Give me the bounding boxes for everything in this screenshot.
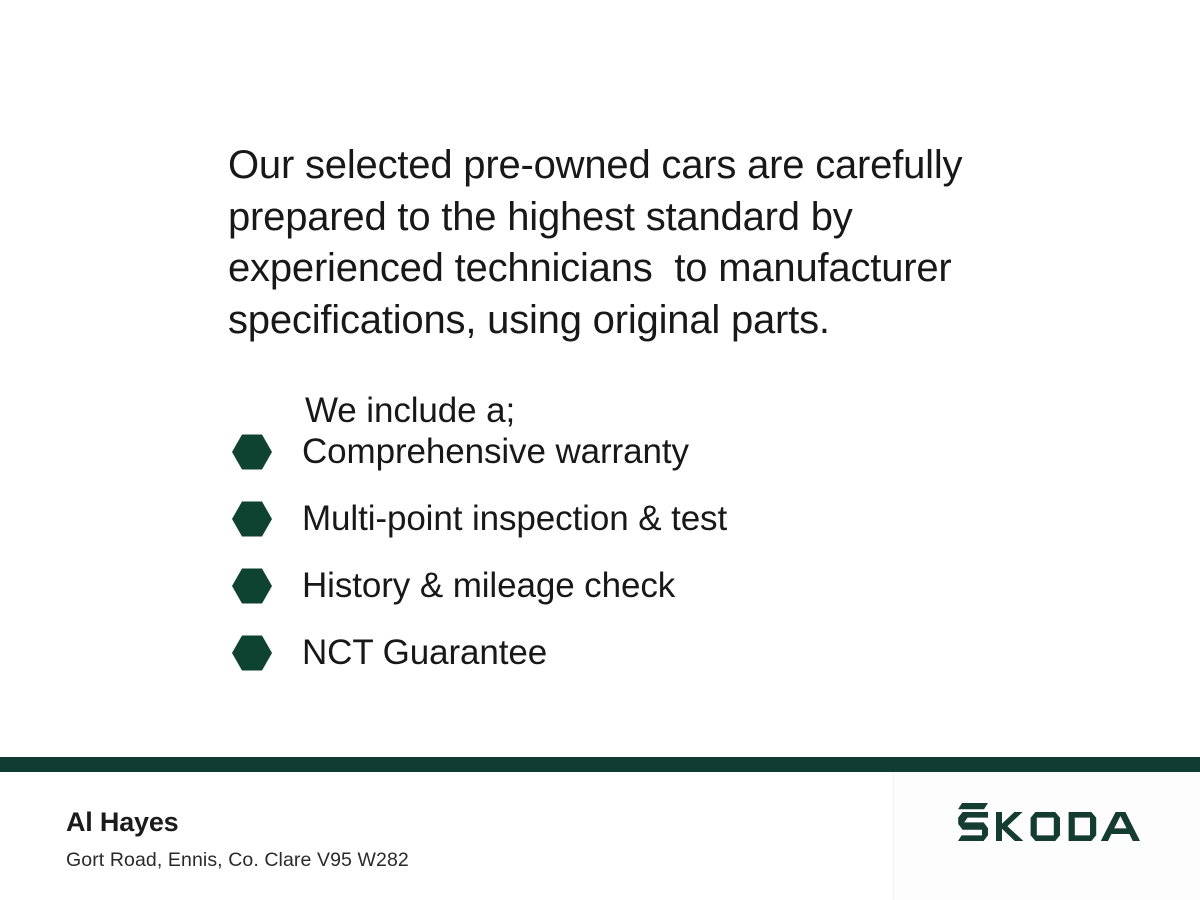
skoda-wordmark-logo [958, 803, 1140, 841]
dealer-address: Gort Road, Ennis, Co. Clare V95 W282 [66, 848, 409, 872]
benefits-list: Comprehensive warranty Multi-point inspe… [232, 418, 932, 686]
dealer-name: Al Hayes [66, 806, 178, 838]
hexagon-bullet-icon [232, 633, 272, 673]
brand-divider-bar [0, 757, 1200, 772]
page-title: Our selected pre-owned cars are carefull… [228, 140, 1018, 346]
list-item: NCT Guarantee [232, 619, 932, 686]
hexagon-bullet-icon [232, 566, 272, 606]
list-item-label: Comprehensive warranty [302, 432, 689, 472]
list-item: Comprehensive warranty [232, 418, 932, 485]
list-item: History & mileage check [232, 552, 932, 619]
list-item-label: NCT Guarantee [302, 633, 547, 673]
list-item-label: Multi-point inspection & test [302, 499, 727, 539]
hexagon-bullet-icon [232, 499, 272, 539]
hexagon-bullet-icon [232, 432, 272, 472]
list-item: Multi-point inspection & test [232, 485, 932, 552]
slide-canvas: Our selected pre-owned cars are carefull… [0, 0, 1200, 900]
list-item-label: History & mileage check [302, 566, 675, 606]
